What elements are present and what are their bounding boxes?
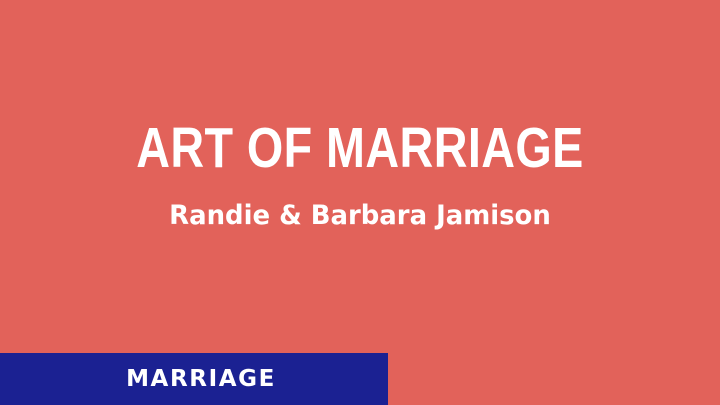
category-banner: MARRIAGE — [0, 353, 388, 405]
page-title: ART OF MARRIAGE — [65, 118, 655, 178]
title-block: ART OF MARRIAGE Randie & Barbara Jamison — [0, 118, 720, 232]
title-slide: ART OF MARRIAGE Randie & Barbara Jamison… — [0, 0, 720, 405]
category-banner-label: MARRIAGE — [112, 366, 276, 392]
slide-subtitle: Randie & Barbara Jamison — [14, 178, 705, 232]
